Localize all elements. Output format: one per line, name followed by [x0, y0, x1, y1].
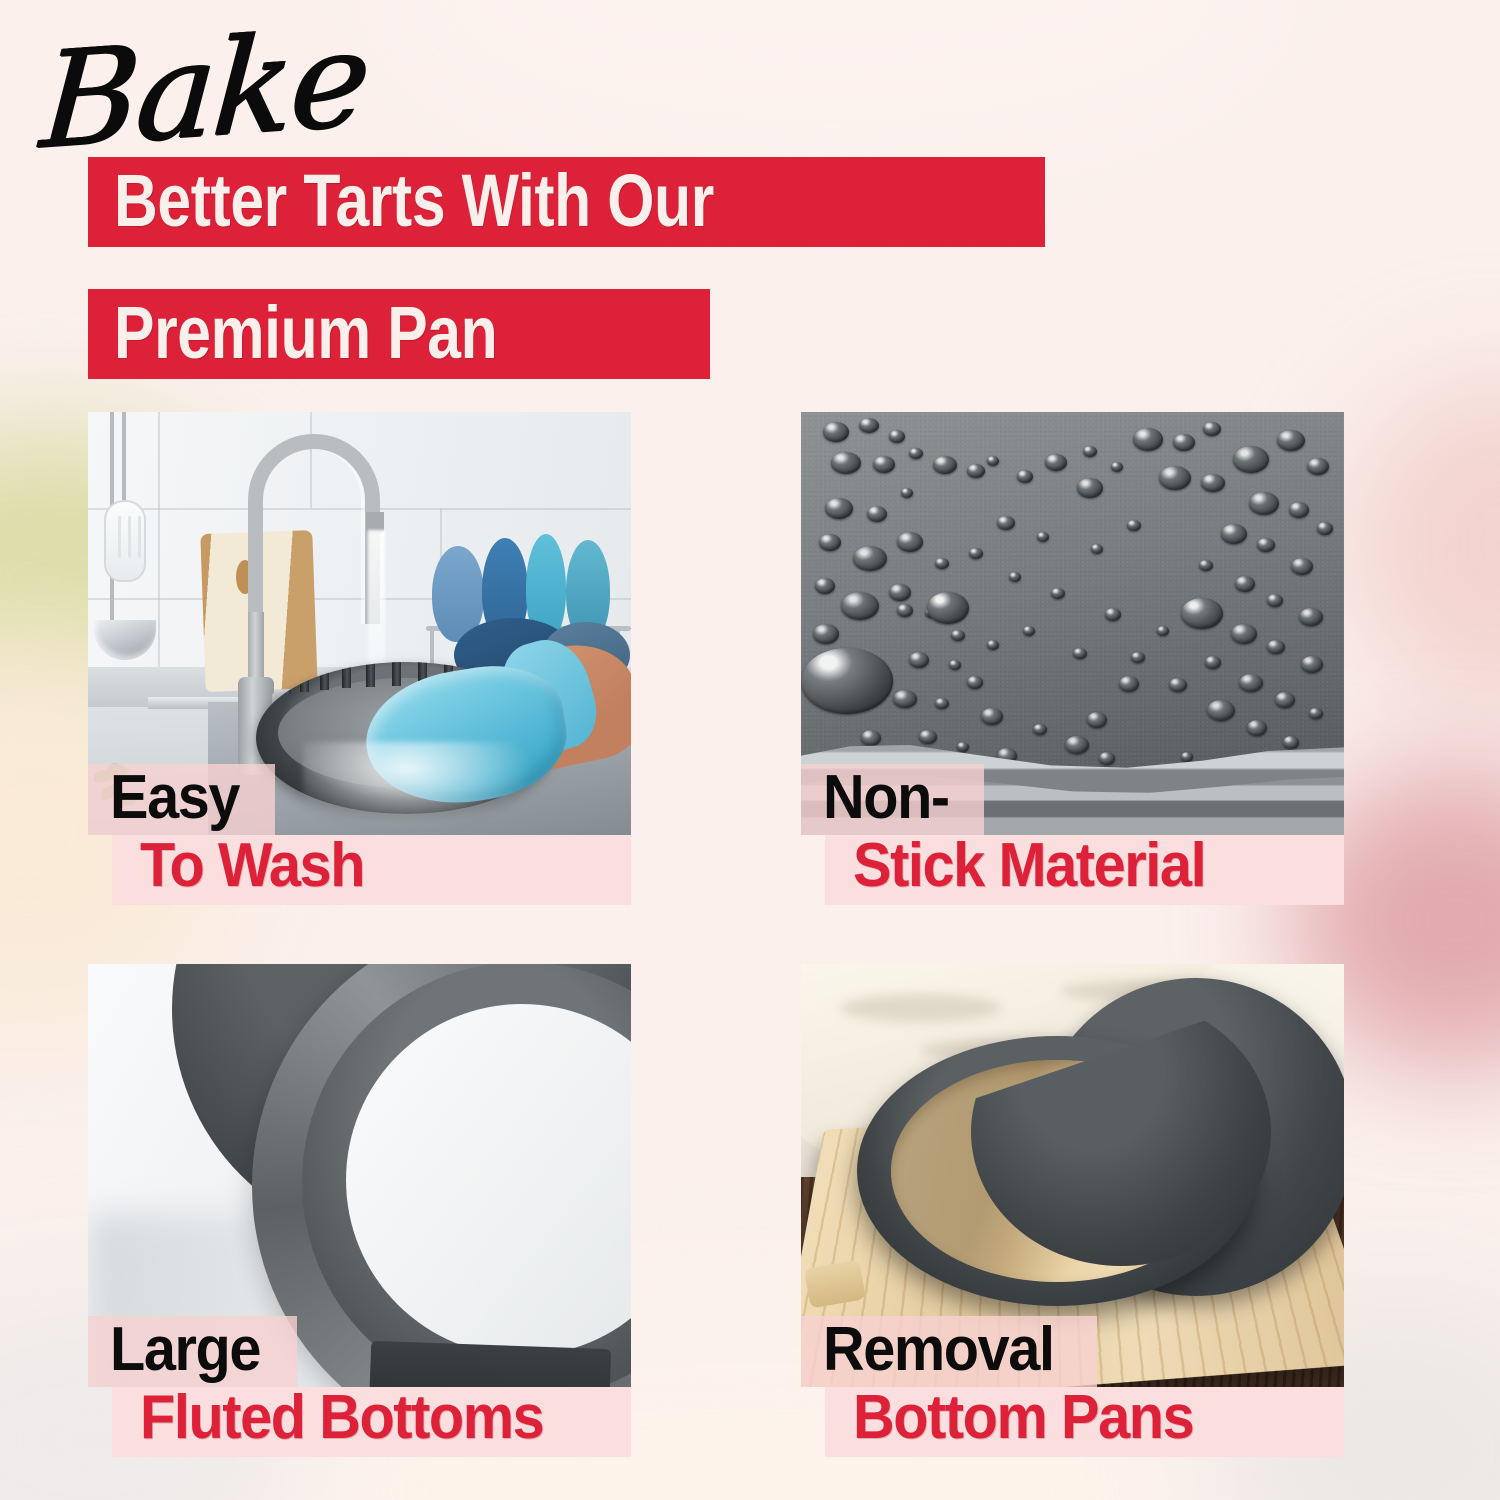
feature-tile-large-fluted-bottoms: Large Fluted Bottoms [88, 964, 631, 1457]
feature-label-top-large: Large [88, 1316, 297, 1387]
headline-row-2: Premium Pan [88, 289, 710, 379]
kitchen-faucet-object [248, 434, 380, 624]
feature-tile-non-stick-material: Non- Stick Material [801, 412, 1344, 905]
headline-red-block-2: Premium Pan [88, 289, 710, 379]
feature-label-top-removal: Removal [801, 1316, 1097, 1387]
feature-label-bottom-text: Fluted Bottoms [140, 1383, 543, 1452]
headline-row-1: Better Tarts With Our [88, 157, 1045, 247]
headline-line-2-text: Premium Pan [114, 298, 585, 368]
feature-label-bottom-stick-material: Stick Material [825, 835, 1344, 905]
feature-label-bottom-fluted-bottoms: Fluted Bottoms [112, 1387, 631, 1457]
script-headline-bake: Bake [38, 12, 372, 168]
feature-tile-easy-to-wash: Easy To Wash [88, 412, 631, 905]
feature-tile-removal-bottom-pans: Removal Bottom Pans [801, 964, 1344, 1457]
water-splash-effect [303, 742, 533, 832]
feature-label-bottom-text: Bottom Pans [853, 1383, 1193, 1452]
feature-tile-grid: Easy To Wash [88, 412, 1344, 1457]
headline-red-block-1: Better Tarts With Our [88, 157, 1045, 247]
feature-label-top-non: Non- [801, 764, 984, 835]
feature-label-top-text: Large [110, 1318, 260, 1381]
feature-label-top-text: Removal [823, 1318, 1054, 1381]
product-infographic-poster: Bake Better Tarts With Our Premium Pan [0, 0, 1500, 1500]
feature-label-bottom-to-wash: To Wash [112, 835, 631, 905]
poster-header: Bake Better Tarts With Our Premium Pan [0, 0, 1500, 400]
feature-label-top-text: Non- [823, 766, 949, 829]
background-blob-rose-upper-right [1350, 380, 1500, 710]
feature-label-bottom-bottom-pans: Bottom Pans [825, 1387, 1344, 1457]
feature-label-bottom-text: To Wash [140, 831, 364, 900]
feature-label-top-text: Easy [110, 766, 239, 829]
headline-line-1-text: Better Tarts With Our [114, 166, 859, 236]
feature-label-bottom-text: Stick Material [853, 831, 1205, 900]
feature-label-top-easy: Easy [88, 764, 275, 835]
